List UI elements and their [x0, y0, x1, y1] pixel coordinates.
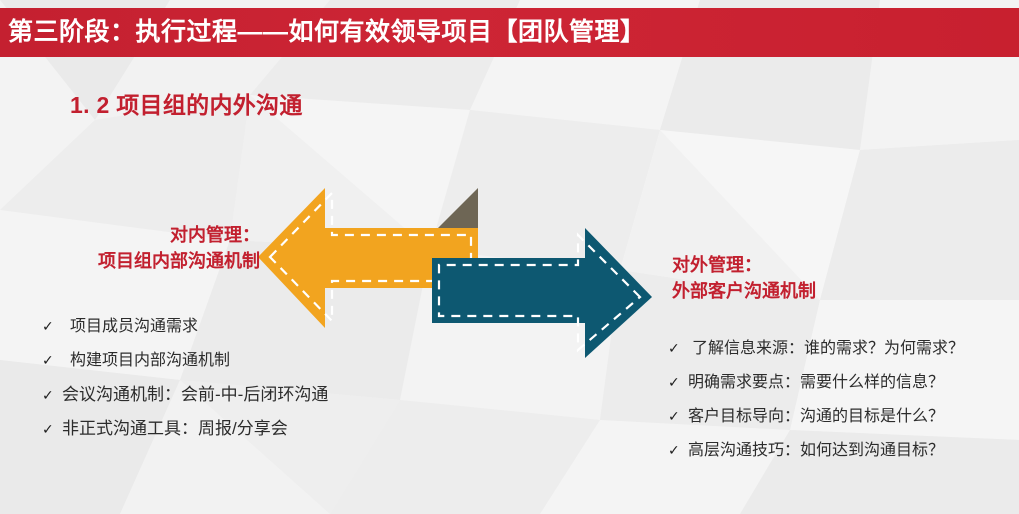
- check-icon: ✓: [668, 340, 688, 357]
- check-icon: ✓: [42, 421, 62, 438]
- list-item-label: 高层沟通技巧：如何达到沟通目标？: [688, 436, 944, 460]
- list-item-label: 客户目标导向：沟通的目标是什么？: [688, 402, 944, 426]
- check-icon: ✓: [42, 318, 62, 335]
- external-bullet-list: ✓ 了解信息来源：谁的需求？为何需求？ ✓ 明确需求要点：需要什么样的信息？ ✓…: [668, 334, 964, 470]
- list-item-label: 项目成员沟通需求: [62, 312, 198, 336]
- check-icon: ✓: [42, 352, 62, 369]
- internal-management-heading: 对内管理： 项目组内部沟通机制: [40, 222, 260, 274]
- check-icon: ✓: [668, 374, 688, 391]
- list-item: ✓ 非正式沟通工具：周报/分享会: [42, 414, 328, 448]
- check-icon: ✓: [668, 408, 688, 425]
- slide-title-bar: 第三阶段：执行过程——如何有效领导项目【团队管理】: [0, 8, 1019, 57]
- slide-canvas: 第三阶段：执行过程——如何有效领导项目【团队管理】 1. 2 项目组的内外沟通 …: [0, 0, 1019, 514]
- list-item-label: 非正式沟通工具：周报/分享会: [62, 414, 288, 439]
- list-item-label: 会议沟通机制：会前-中-后闭环沟通: [62, 380, 328, 405]
- list-item: ✓ 明确需求要点：需要什么样的信息？: [668, 368, 964, 402]
- list-item: ✓ 项目成员沟通需求: [42, 312, 328, 346]
- list-item: ✓ 客户目标导向：沟通的目标是什么？: [668, 402, 964, 436]
- list-item-label: 明确需求要点：需要什么样的信息？: [688, 368, 944, 392]
- external-heading-line2: 外部客户沟通机制: [672, 278, 816, 304]
- external-heading-line1: 对外管理：: [672, 252, 816, 278]
- check-icon: ✓: [668, 442, 688, 459]
- list-item: ✓ 会议沟通机制：会前-中-后闭环沟通: [42, 380, 328, 414]
- internal-heading-line1: 对内管理：: [40, 222, 260, 248]
- external-management-heading: 对外管理： 外部客户沟通机制: [672, 252, 816, 304]
- internal-heading-line2: 项目组内部沟通机制: [40, 248, 260, 274]
- list-item: ✓ 高层沟通技巧：如何达到沟通目标？: [668, 436, 964, 470]
- section-subtitle: 1. 2 项目组的内外沟通: [70, 86, 303, 120]
- check-icon: ✓: [42, 387, 62, 404]
- list-item-label: 构建项目内部沟通机制: [62, 346, 230, 370]
- list-item-label: 了解信息来源：谁的需求？为何需求？: [688, 334, 964, 358]
- list-item: ✓ 构建项目内部沟通机制: [42, 346, 328, 380]
- list-item: ✓ 了解信息来源：谁的需求？为何需求？: [668, 334, 964, 368]
- internal-bullet-list: ✓ 项目成员沟通需求 ✓ 构建项目内部沟通机制 ✓ 会议沟通机制：会前-中-后闭…: [42, 312, 328, 448]
- page-title: 第三阶段：执行过程——如何有效领导项目【团队管理】: [0, 20, 646, 45]
